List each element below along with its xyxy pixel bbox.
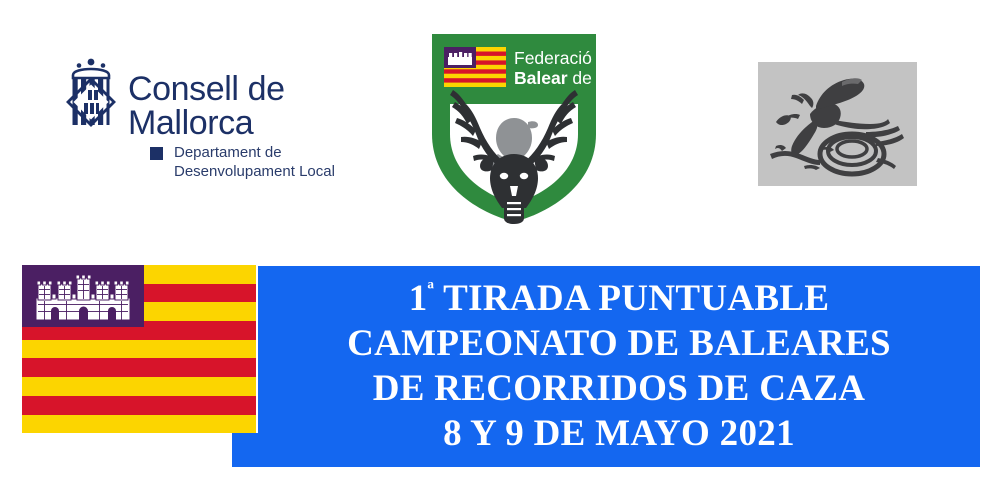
white-castle-icon <box>22 265 144 327</box>
banner-group: 1ª TIRADA PUNTUABLE CAMPEONATO DE BALEAR… <box>0 250 1000 500</box>
banner-line-3: DE RECORRIDOS DE CAZA <box>373 366 866 411</box>
flag-canton <box>22 265 144 327</box>
flag-stripe <box>22 358 256 377</box>
event-banner-text: 1ª TIRADA PUNTUABLE CAMPEONATO DE BALEAR… <box>258 270 980 462</box>
flag-stripe <box>22 396 256 415</box>
flag-stripe <box>22 340 256 359</box>
consell-department-text: Departament de Desenvolupament Local <box>174 143 335 181</box>
consell-mallorca-crest-icon <box>62 58 120 130</box>
flying-pheasant-engraving-icon <box>758 62 917 186</box>
hunting-bird-engraving <box>758 62 917 186</box>
consell-de-mallorca-logo: Consell de Mallorca Departament de Desen… <box>62 58 322 188</box>
federacio-title-line2: Balear de Caça <box>514 68 600 88</box>
event-poster: Consell de Mallorca Departament de Desen… <box>0 0 1000 500</box>
flag-stripe <box>22 415 256 434</box>
banner-line-2: CAMPEONATO DE BALEARES <box>347 321 891 366</box>
consell-department-block: Departament de Desenvolupament Local <box>150 143 335 181</box>
consell-wordmark-line2: Mallorca <box>128 106 285 140</box>
consell-wordmark: Consell de Mallorca <box>128 72 285 140</box>
flag-stripe <box>22 377 256 396</box>
banner-line-1: 1ª TIRADA PUNTUABLE <box>409 276 830 321</box>
department-line2: Desenvolupament Local <box>174 162 335 181</box>
logo-row: Consell de Mallorca Departament de Desen… <box>0 0 1000 250</box>
consell-wordmark-line1: Consell de <box>128 72 285 106</box>
banner-line-4: 8 Y 9 DE MAYO 2021 <box>443 411 795 456</box>
balearic-islands-flag <box>22 265 256 433</box>
department-line1: Departament de <box>174 143 335 162</box>
federacio-balear-de-caca-logo: Federació Balear de Caça <box>428 30 600 226</box>
federacio-title-line1: Federació <box>514 48 592 68</box>
square-bullet-icon <box>150 147 163 160</box>
balearic-flag-icon <box>444 47 506 87</box>
